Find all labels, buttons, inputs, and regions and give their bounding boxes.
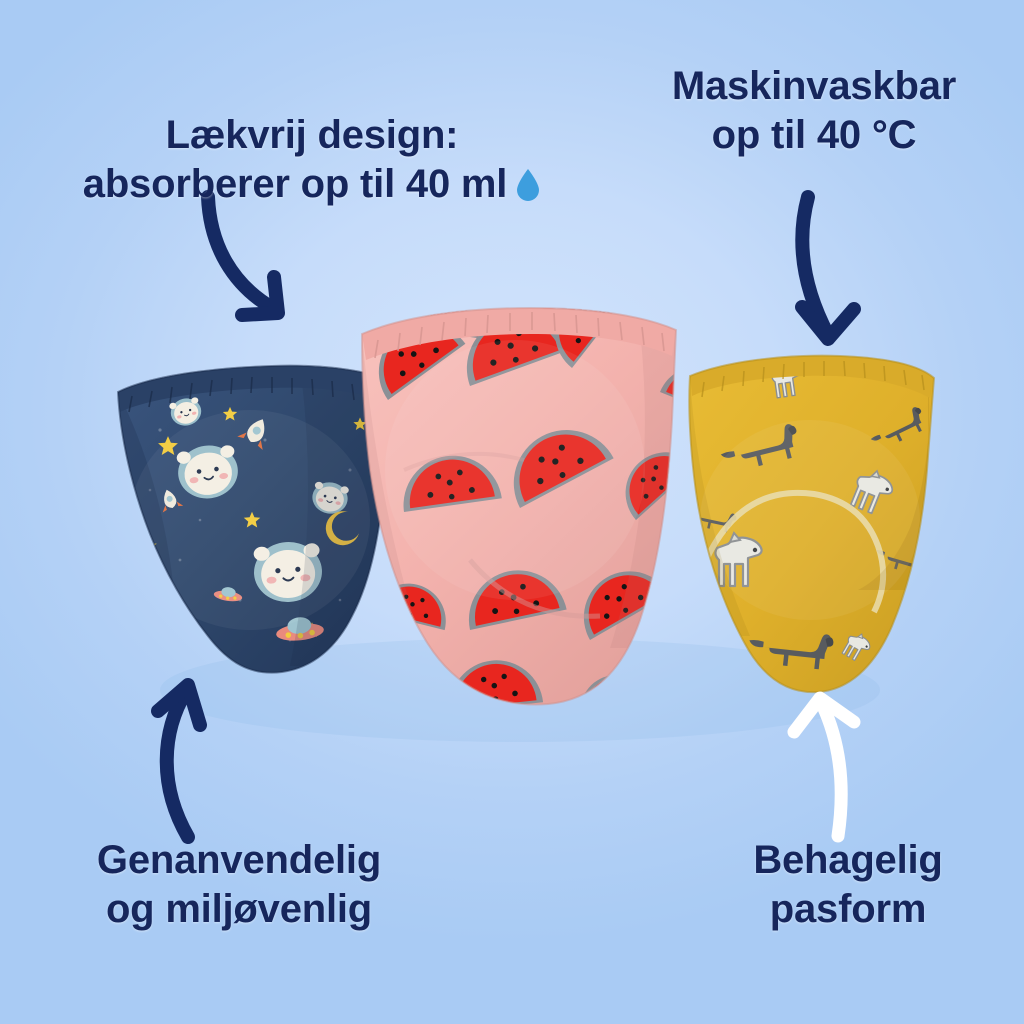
curved-arrow-down-icon xyxy=(780,185,940,355)
curved-arrow-up-left-icon xyxy=(768,678,918,848)
callout-leakproof: Lækvrij design: absorberer op til 40 ml xyxy=(12,62,612,208)
callout-leakproof-text: Lækvrij design: absorberer op til 40 ml xyxy=(83,113,507,206)
callout-fit: Behagelig pasform xyxy=(672,836,1024,934)
water-droplet-icon xyxy=(515,167,541,201)
callout-eco: Genanvendelig og miljøvenlig xyxy=(14,836,464,934)
curved-arrow-up-icon xyxy=(130,665,290,850)
callout-washable: Maskinvaskbar op til 40 °C xyxy=(614,62,1014,160)
promo-image: Lækvrij design: absorberer op til 40 ml … xyxy=(0,0,1024,1024)
curved-arrow-down-right-icon xyxy=(170,185,330,345)
